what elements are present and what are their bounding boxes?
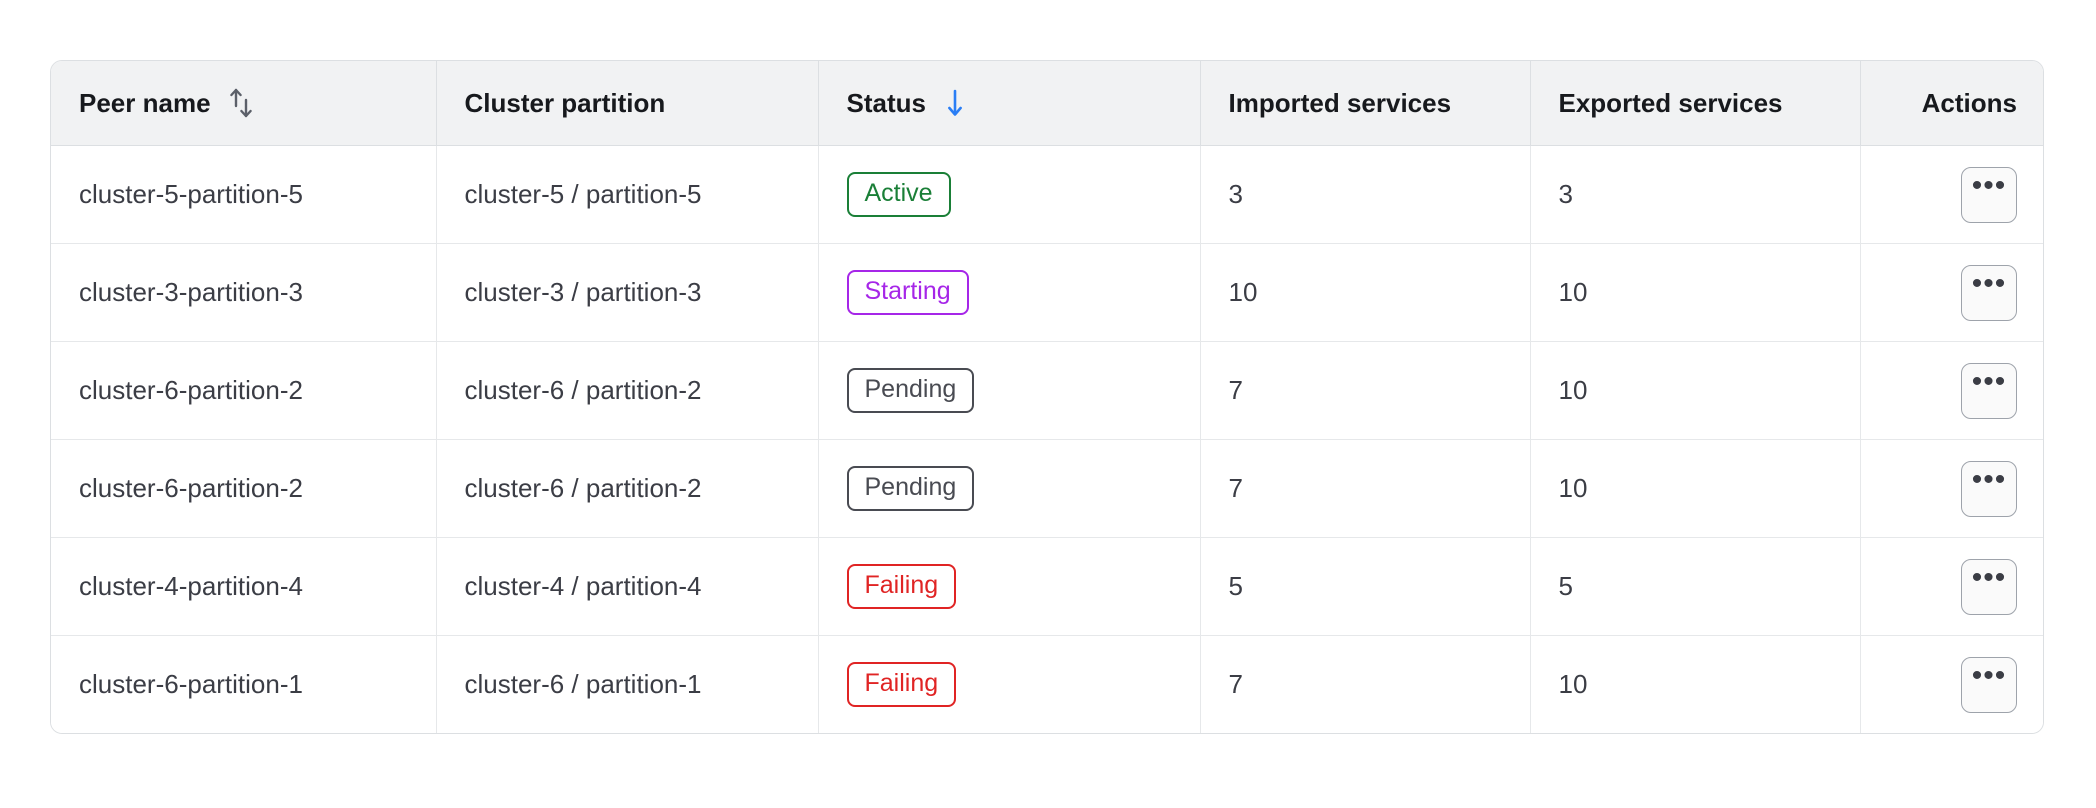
ellipsis-icon: •••: [1972, 661, 2007, 691]
ellipsis-icon: •••: [1972, 269, 2007, 299]
cell-actions: •••: [1860, 146, 2044, 244]
cell-actions: •••: [1860, 342, 2044, 440]
table-row: cluster-5-partition-5 cluster-5 / partit…: [51, 146, 2044, 244]
cell-actions: •••: [1860, 244, 2044, 342]
ellipsis-icon: •••: [1972, 465, 2007, 495]
ellipsis-icon: •••: [1972, 563, 2007, 593]
peers-table-container: Peer name: [50, 60, 2044, 734]
cell-exported-services: 10: [1530, 342, 1860, 440]
cell-cluster-partition: cluster-6 / partition-2: [436, 342, 818, 440]
arrow-down-icon[interactable]: [942, 87, 968, 119]
table-header: Peer name: [51, 61, 2044, 146]
page-root: Peer name: [0, 0, 2096, 808]
cell-status: Failing: [818, 636, 1200, 734]
cell-peer-name: cluster-4-partition-4: [51, 538, 436, 636]
column-header-label: Actions: [1922, 88, 2017, 119]
row-actions-menu-button[interactable]: •••: [1961, 657, 2017, 713]
row-actions-menu-button[interactable]: •••: [1961, 559, 2017, 615]
status-badge: Starting: [847, 270, 969, 315]
row-actions-menu-button[interactable]: •••: [1961, 363, 2017, 419]
table-header-row: Peer name: [51, 61, 2044, 146]
cell-imported-services: 7: [1200, 636, 1530, 734]
cell-peer-name: cluster-6-partition-2: [51, 342, 436, 440]
cell-exported-services: 3: [1530, 146, 1860, 244]
cell-exported-services: 10: [1530, 636, 1860, 734]
cell-status: Pending: [818, 440, 1200, 538]
cell-status: Failing: [818, 538, 1200, 636]
row-actions-menu-button[interactable]: •••: [1961, 461, 2017, 517]
cell-actions: •••: [1860, 636, 2044, 734]
cell-peer-name: cluster-6-partition-1: [51, 636, 436, 734]
column-header-label: Peer name: [79, 88, 211, 119]
cell-peer-name: cluster-3-partition-3: [51, 244, 436, 342]
row-actions-menu-button[interactable]: •••: [1961, 167, 2017, 223]
status-badge: Failing: [847, 662, 957, 707]
cell-actions: •••: [1860, 440, 2044, 538]
status-badge: Failing: [847, 564, 957, 609]
cell-peer-name: cluster-6-partition-2: [51, 440, 436, 538]
cell-cluster-partition: cluster-6 / partition-1: [436, 636, 818, 734]
table-row: cluster-6-partition-1 cluster-6 / partit…: [51, 636, 2044, 734]
cell-cluster-partition: cluster-5 / partition-5: [436, 146, 818, 244]
column-header-label: Imported services: [1229, 88, 1452, 119]
column-header-imported-services[interactable]: Imported services: [1200, 61, 1530, 146]
cell-cluster-partition: cluster-4 / partition-4: [436, 538, 818, 636]
column-header-label: Exported services: [1559, 88, 1783, 119]
table-row: cluster-6-partition-2 cluster-6 / partit…: [51, 342, 2044, 440]
table-body: cluster-5-partition-5 cluster-5 / partit…: [51, 146, 2044, 734]
cell-status: Pending: [818, 342, 1200, 440]
cell-status: Active: [818, 146, 1200, 244]
table-row: cluster-6-partition-2 cluster-6 / partit…: [51, 440, 2044, 538]
table-row: cluster-3-partition-3 cluster-3 / partit…: [51, 244, 2044, 342]
status-badge: Pending: [847, 368, 975, 413]
column-header-peer-name[interactable]: Peer name: [51, 61, 436, 146]
sort-updown-icon[interactable]: [227, 86, 255, 120]
status-badge: Pending: [847, 466, 975, 511]
column-header-status[interactable]: Status: [818, 61, 1200, 146]
column-header-actions: Actions: [1860, 61, 2044, 146]
ellipsis-icon: •••: [1972, 367, 2007, 397]
cell-peer-name: cluster-5-partition-5: [51, 146, 436, 244]
column-header-exported-services[interactable]: Exported services: [1530, 61, 1860, 146]
ellipsis-icon: •••: [1972, 171, 2007, 201]
row-actions-menu-button[interactable]: •••: [1961, 265, 2017, 321]
cell-exported-services: 10: [1530, 440, 1860, 538]
cell-exported-services: 10: [1530, 244, 1860, 342]
column-header-cluster-partition[interactable]: Cluster partition: [436, 61, 818, 146]
cell-status: Starting: [818, 244, 1200, 342]
peers-table: Peer name: [51, 61, 2044, 733]
column-header-label: Status: [847, 88, 926, 119]
cell-imported-services: 3: [1200, 146, 1530, 244]
cell-imported-services: 5: [1200, 538, 1530, 636]
table-row: cluster-4-partition-4 cluster-4 / partit…: [51, 538, 2044, 636]
cell-imported-services: 10: [1200, 244, 1530, 342]
cell-cluster-partition: cluster-3 / partition-3: [436, 244, 818, 342]
cell-imported-services: 7: [1200, 440, 1530, 538]
cell-cluster-partition: cluster-6 / partition-2: [436, 440, 818, 538]
column-header-label: Cluster partition: [465, 88, 666, 119]
status-badge: Active: [847, 172, 951, 217]
cell-actions: •••: [1860, 538, 2044, 636]
cell-imported-services: 7: [1200, 342, 1530, 440]
cell-exported-services: 5: [1530, 538, 1860, 636]
